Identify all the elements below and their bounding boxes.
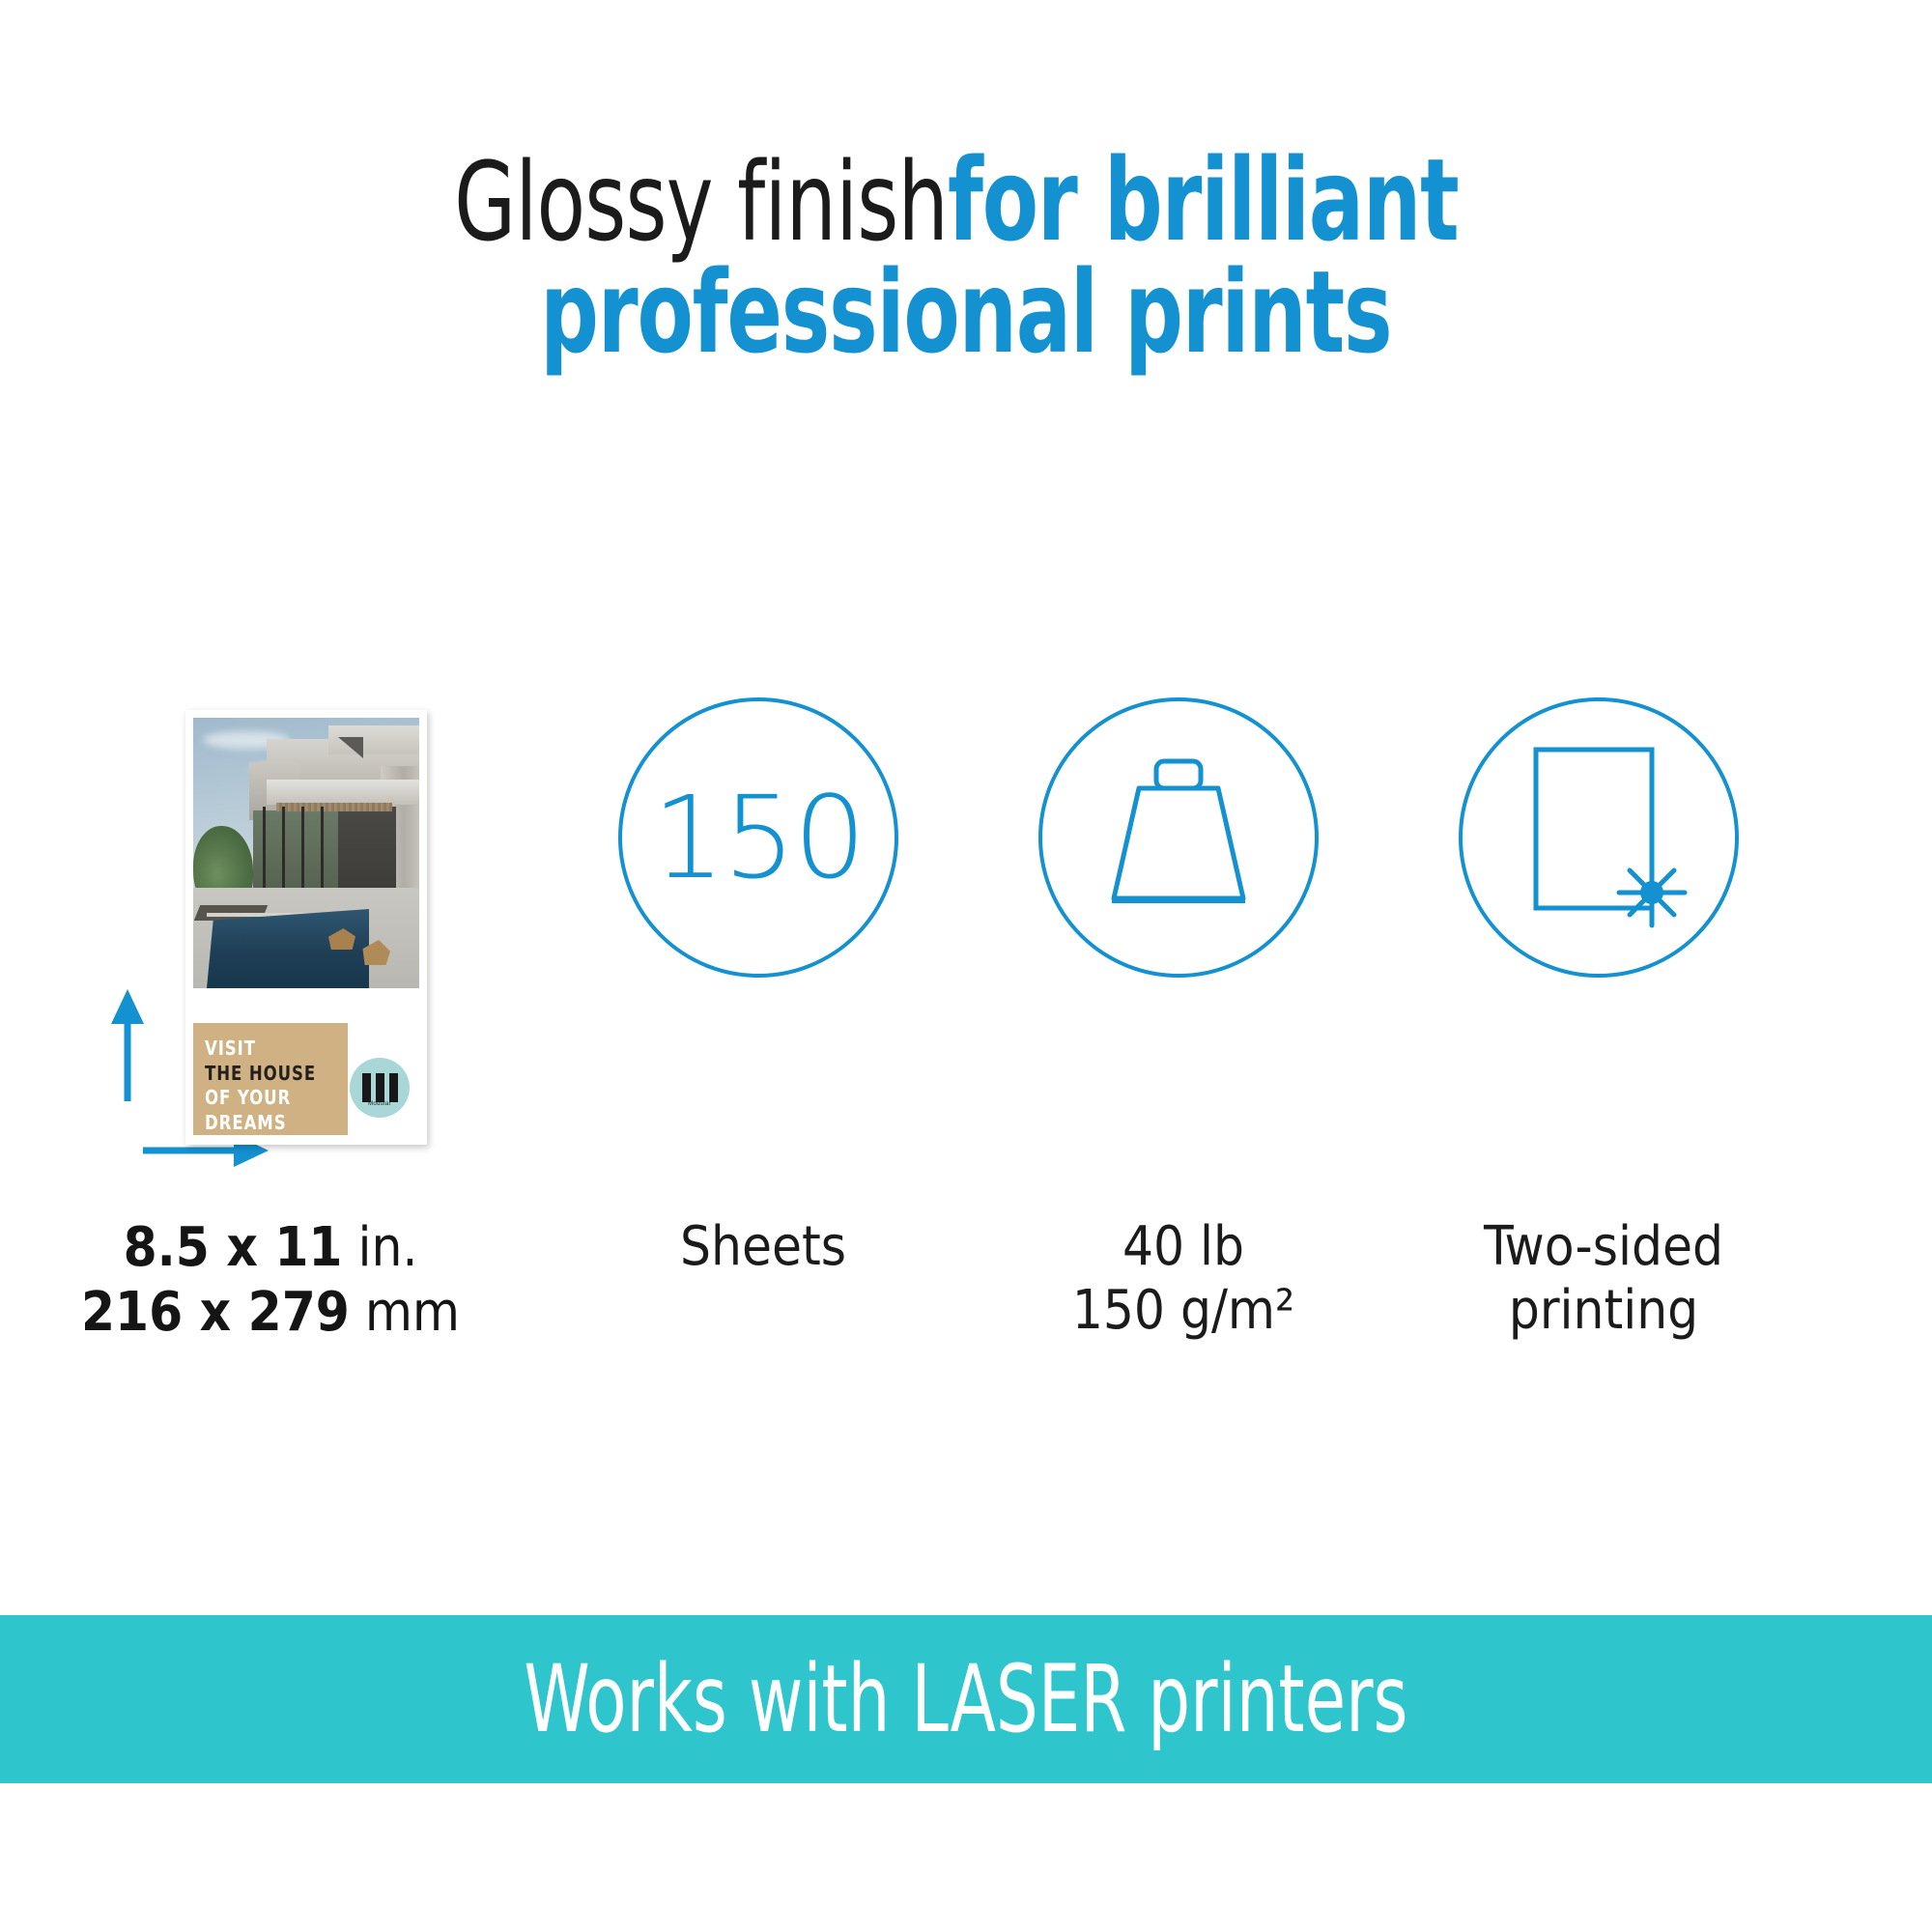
feature-row: VISIT THE HOUSE OF YOUR DREAMS Modular 1… [0, 676, 1932, 1217]
weight-caption-line-2: 150 g/m² [1038, 1279, 1328, 1343]
laser-compatibility-banner: Works with LASER printers [0, 1615, 1932, 1783]
sheets-count-value: 150 [622, 701, 895, 974]
weight-caption: 40 lb 150 g/m² [1038, 1215, 1328, 1343]
product-feature-page: Glossy finish for brilliant professional… [0, 0, 1932, 1932]
arrow-up-icon [111, 989, 144, 1101]
weight-icon [1096, 757, 1261, 922]
paper-size-mm: 216 x 279 mm [0, 1280, 541, 1345]
sheets-caption-line-1: Sheets [618, 1215, 908, 1279]
headline-line-2: professional prints [0, 257, 1932, 369]
logo-bar [362, 1073, 371, 1102]
poster-photo [193, 718, 419, 988]
poster-band-line-1: VISIT [205, 1037, 336, 1062]
two-sided-caption: Two-sided printing [1459, 1215, 1748, 1343]
headline-light-text: Glossy finish [454, 151, 948, 257]
photo-eave-slats [276, 803, 392, 811]
poster-band-line-2: THE HOUSE [205, 1062, 336, 1087]
two-sided-caption-line-1: Two-sided [1459, 1215, 1748, 1279]
logo-bar [376, 1073, 384, 1102]
two-sided-caption-line-2: printing [1459, 1279, 1748, 1343]
photo-glazing [253, 810, 342, 899]
headline-bold-text: for brilliant [948, 145, 1459, 257]
weight-caption-line-1: 40 lb [1038, 1215, 1328, 1279]
paper-size-caption: 8.5 x 11 in. 216 x 279 mm [0, 1215, 541, 1345]
two-sided-laser-page-icon [1515, 736, 1698, 939]
logo-bars-icon [362, 1073, 398, 1102]
sheets-caption: Sheets [618, 1215, 908, 1279]
headline-line-1: Glossy finish for brilliant [0, 145, 1932, 257]
paper-size-feature: VISIT THE HOUSE OF YOUR DREAMS Modular [97, 676, 541, 1217]
banner-text: Works with LASER printers [524, 1645, 1407, 1753]
paper-size-mm-value: 216 x 279 [81, 1281, 350, 1344]
headline-bold-text-2: professional prints [540, 257, 1391, 369]
photo-eave [267, 780, 419, 805]
circle-number-icon: 150 [618, 697, 898, 978]
paper-size-inches-unit: in. [342, 1216, 417, 1279]
poster-logo-badge: Modular [350, 1058, 410, 1118]
logo-bar [389, 1073, 398, 1102]
page-headline: Glossy finish for brilliant professional… [0, 145, 1932, 368]
poster-text-band: VISIT THE HOUSE OF YOUR DREAMS [193, 1023, 348, 1135]
poster-logo-caption: Modular [350, 1101, 410, 1107]
paper-size-inches-value: 8.5 x 11 [124, 1216, 343, 1279]
feature-two-sided [1459, 697, 1748, 987]
feature-sheets: 150 [618, 697, 908, 987]
paper-size-inches: 8.5 x 11 in. [0, 1215, 541, 1280]
feature-weight [1038, 697, 1328, 987]
paper-size-mm-unit: mm [350, 1281, 460, 1344]
sample-print-thumbnail: VISIT THE HOUSE OF YOUR DREAMS Modular [185, 710, 427, 1145]
poster-band-line-3: OF YOUR DREAMS [205, 1086, 336, 1135]
